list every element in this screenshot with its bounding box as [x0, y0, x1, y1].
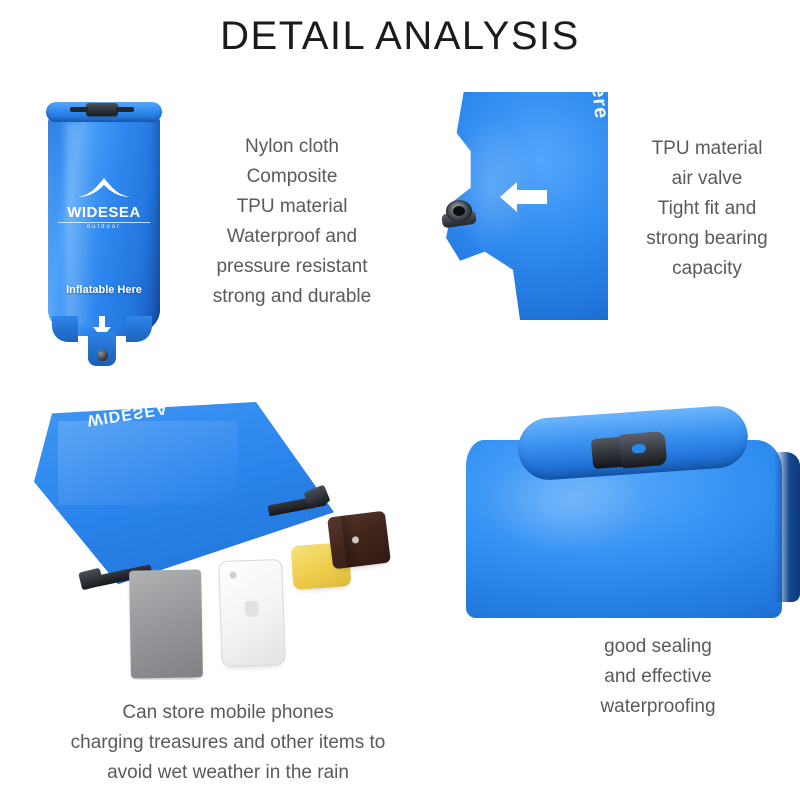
product-photo-valve-closeup: Here: [432, 92, 608, 320]
arrow-left-icon: [500, 180, 548, 214]
logo-subtitle: outdoor: [58, 224, 150, 230]
item-mobile-phone: [218, 559, 286, 667]
mountain-peak-icon: [76, 176, 132, 198]
page-title: DETAIL ANALYSIS: [0, 14, 800, 59]
side-release-buckle-icon: [591, 431, 668, 471]
valve-opening: [453, 206, 465, 216]
inflation-valve-icon: [97, 350, 108, 361]
caption-valve-material: TPU material air valve Tight fit and str…: [614, 134, 800, 284]
item-towel: [129, 569, 203, 678]
caption-sealing: good sealing and effective waterproofing: [548, 632, 768, 722]
logo-wordmark: WIDESEA: [58, 205, 150, 221]
product-photo-standing-bag: WIDESEA outdoor Inflatable Here: [24, 88, 194, 370]
buckle-icon: [86, 103, 118, 116]
bag-base-right: [126, 316, 152, 342]
caption-storage-usage: Can store mobile phones charging treasur…: [18, 698, 438, 788]
product-photo-stored-items: WIDESEA: [30, 392, 430, 680]
flat-bag-sheet: [34, 402, 334, 592]
caption-nylon-material: Nylon cloth Composite TPU material Water…: [186, 132, 398, 312]
air-valve-nozzle-icon: [442, 200, 476, 224]
phone-camera-icon: [230, 572, 237, 579]
bag-side-seam: [774, 452, 800, 602]
widesea-logo: WIDESEA outdoor: [58, 176, 150, 230]
buckle-clip-left-icon: [78, 568, 104, 591]
product-photo-rolltop-closure: [466, 398, 800, 618]
item-card-wallet: [327, 511, 391, 570]
detail-analysis-page: DETAIL ANALYSIS WIDESEA outdoor Inflatab…: [0, 0, 800, 800]
phone-logo-icon: [245, 601, 260, 617]
bag-base-left: [52, 316, 78, 342]
inflate-here-label: Inflatable Here: [54, 284, 154, 297]
logo-divider: [58, 222, 150, 223]
logo-wordmark-partial: WIDESEA: [86, 397, 174, 428]
